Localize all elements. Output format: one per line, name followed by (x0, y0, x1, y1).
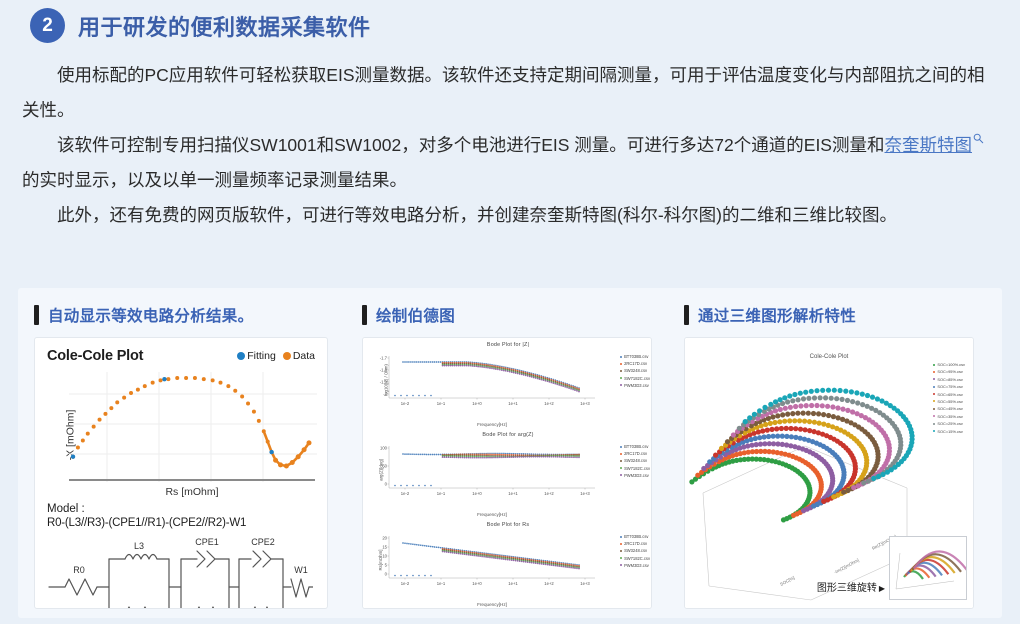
rotation-preview-inset[interactable] (889, 536, 967, 600)
svg-text:1e+0: 1e+0 (472, 401, 482, 406)
bode-legend-dot (620, 564, 622, 566)
svg-text:-2: -2 (383, 392, 387, 397)
bar-marker-icon (684, 305, 689, 325)
paragraph-2: 该软件可控制专用扫描仪SW1001和SW1002，对多个电池进行EIS 测量。可… (22, 128, 1000, 198)
three-d-legend-dot (933, 423, 935, 425)
bode-legend-item: SW7182C.csv (620, 466, 650, 471)
three-d-plot: Cole-Cole Plot Re(Z)[mOhm]-Im(Z)[mOhm]SO… (685, 338, 973, 608)
svg-text:1e+1: 1e+1 (508, 581, 518, 586)
three-d-legend-label: SOC=100%.csv (937, 362, 965, 367)
bode-legend-dot (620, 356, 622, 358)
bode-legend-dot (620, 550, 622, 552)
play-arrow-icon: ▶ (879, 584, 885, 593)
bode-legend-label: SW7182C.csv (624, 466, 650, 471)
bode-legend-dot (620, 460, 622, 462)
bode-charts: Bode Plot for |Z|log10(|Z| / Ohm)-1.7-1.… (363, 338, 651, 608)
bode-axes: -1.7-1.8-1.9-21e-21e-11e+01e+11e+21e+3 (363, 350, 621, 412)
bode-legend-label: BT7038B.csv (624, 354, 648, 359)
three-d-legend-item: SOC=65%.csv (933, 392, 965, 397)
three-d-legend-label: SOC=15%.csv (937, 429, 962, 434)
svg-text:-1.7: -1.7 (380, 356, 388, 361)
cole-cole-legend: Fitting Data (237, 350, 315, 362)
svg-text:1e-1: 1e-1 (437, 401, 446, 406)
body-text: 使用标配的PC应用软件可轻松获取EIS测量数据。该软件还支持定期间隔测量，可用于… (22, 58, 1000, 233)
feature-panels: 自动显示等效电路分析结果。 Cole-Cole Plot Fitting Dat… (18, 288, 1002, 618)
panel-3-head: 通过三维图形解析特性 (684, 304, 988, 326)
three-d-legend: SOC=100%.csvSOC=95%.csvSOC=85%.csvSOC=75… (931, 360, 967, 436)
svg-text:1e+3: 1e+3 (580, 401, 590, 406)
page-title: 用于研发的便利数据采集软件 (78, 10, 371, 42)
cole-cole-xlabel: Rs [mOhm] (69, 486, 315, 498)
bode-legend-item: SW3248.csv (620, 548, 650, 553)
three-d-legend-item: SOC=45%.csv (933, 406, 965, 411)
three-d-legend-dot (933, 393, 935, 395)
svg-text:-1.8: -1.8 (380, 368, 388, 373)
bode-legend-item: SW3248.csv (620, 368, 650, 373)
panel-1-title: 自动显示等效电路分析结果。 (48, 304, 253, 326)
svg-text:5: 5 (385, 563, 388, 568)
cole-cole-title: Cole-Cole Plot (47, 348, 143, 364)
legend-dot-data (283, 352, 291, 360)
svg-text:1e-2: 1e-2 (401, 581, 410, 586)
bode-legend-label: PWM3D3.csv (624, 473, 649, 478)
inset-caption-text: 图形三维旋转 (817, 583, 877, 594)
bode-legend-label: SW7182C.csv (624, 556, 650, 561)
three-d-legend-dot (933, 364, 935, 366)
bode-xlabel: Frequency[Hz] (363, 512, 621, 517)
svg-text:10: 10 (382, 554, 387, 559)
bode-legend-dot (620, 363, 622, 365)
bode-subchart-title: Bode Plot for |Z| (363, 338, 652, 348)
cole-cole-header: Cole-Cole Plot Fitting Data (47, 348, 315, 364)
three-d-legend-label: SOC=55%.csv (937, 399, 962, 404)
bode-subchart-title: Bode Plot for arg(Z) (363, 428, 652, 438)
bode-legend-dot (620, 467, 622, 469)
cole-cole-scatter (69, 372, 317, 482)
bode-legend-label: PWM3D3.csv (624, 563, 649, 568)
bode-legend: BT7038B.csv2RC17D.csvSW3248.csvSW7182C.c… (620, 534, 650, 568)
svg-text:-Im(Z)[mOhm]: -Im(Z)[mOhm] (833, 558, 860, 575)
svg-text:-1.9: -1.9 (380, 380, 388, 385)
legend-dot-fitting (237, 352, 245, 360)
bode-axes: 201510501e-21e-11e+01e+11e+21e+3 (363, 530, 621, 592)
bar-marker-icon (362, 305, 367, 325)
nyquist-plot-link[interactable]: 奈奎斯特图 (884, 135, 972, 155)
svg-text:15: 15 (382, 545, 387, 550)
svg-text:1e+3: 1e+3 (580, 581, 590, 586)
bode-legend-item: BT7038B.csv (620, 534, 650, 539)
bode-subchart-2: Bode Plot for RsRs[mOhm]201510501e-21e-1… (363, 518, 652, 608)
svg-text:1e+2: 1e+2 (544, 401, 554, 406)
bode-legend-label: BT7038B.csv (624, 444, 648, 449)
three-d-legend-item: SOC=55%.csv (933, 399, 965, 404)
bode-legend-dot (620, 557, 622, 559)
svg-text:1e+2: 1e+2 (544, 491, 554, 496)
three-d-legend-dot (933, 386, 935, 388)
inset-thumbnail (890, 537, 966, 599)
inset-caption: 图形三维旋转▶ (817, 579, 885, 594)
panel-3d-analysis: 通过三维图形解析特性 Cole-Cole Plot Re(Z)[mOhm]-Im… (668, 288, 1002, 618)
svg-text:1e+0: 1e+0 (472, 491, 482, 496)
legend-item-fitting: Fitting (237, 350, 276, 362)
svg-text:100: 100 (380, 446, 388, 451)
paragraph-2-before: 该软件可控制专用扫描仪SW1001和SW1002，对多个电池进行EIS 测量。可… (57, 135, 884, 155)
bode-legend-dot (620, 543, 622, 545)
bode-legend-dot (620, 377, 622, 379)
svg-text:0: 0 (385, 572, 388, 577)
svg-text:1e-2: 1e-2 (401, 401, 410, 406)
bode-subchart-0: Bode Plot for |Z|log10(|Z| / Ohm)-1.7-1.… (363, 338, 652, 428)
bode-subchart-1: Bode Plot for arg(Z)arg(Z)[deg]1005001e-… (363, 428, 652, 518)
three-d-legend-item: SOC=95%.csv (933, 369, 965, 374)
model-equation: R0-(L3//R3)-(CPE1//R1)-(CPE2//R2)-W1 (47, 517, 315, 529)
three-d-title: Cole-Cole Plot (685, 354, 973, 360)
circuit-diagram: R0 L3 R3 CPE1 R1 CPE2 R2 W1 (47, 535, 313, 609)
bode-legend-dot (620, 474, 622, 476)
three-d-legend-dot (933, 408, 935, 410)
model-label: Model : (47, 503, 315, 515)
bode-legend-label: SW3248.csv (624, 548, 647, 553)
bode-legend-dot (620, 536, 622, 538)
bode-legend-item: BT7038B.csv (620, 354, 650, 359)
bode-legend: BT7038B.csv2RC17D.csvSW3248.csvSW7182C.c… (620, 354, 650, 388)
svg-text:1e+3: 1e+3 (580, 491, 590, 496)
bode-legend-item: SW3248.csv (620, 458, 650, 463)
search-icon[interactable] (973, 133, 984, 144)
bode-legend-item: SW7182C.csv (620, 556, 650, 561)
bode-legend-dot (620, 446, 622, 448)
three-d-legend-dot (933, 400, 935, 402)
cole-cole-card: Cole-Cole Plot Fitting Data -X [mOhm] (34, 337, 328, 609)
svg-text:1e+1: 1e+1 (508, 401, 518, 406)
bode-subchart-title: Bode Plot for Rs (363, 518, 652, 528)
panel-3-title: 通过三维图形解析特性 (698, 304, 856, 326)
legend-item-data: Data (283, 350, 315, 362)
page-root: 2 用于研发的便利数据采集软件 使用标配的PC应用软件可轻松获取EIS测量数据。… (0, 0, 1020, 624)
bode-legend-label: 2RC17D.csv (624, 541, 647, 546)
section-number-badge: 2 (30, 8, 65, 43)
three-d-legend-item: SOC=35%.csv (933, 414, 965, 419)
bode-legend-item: PWM3D3.csv (620, 473, 650, 478)
bode-legend-label: PWM3D3.csv (624, 383, 649, 388)
bode-legend-label: SW3248.csv (624, 368, 647, 373)
panel-1-head: 自动显示等效电路分析结果。 (34, 304, 332, 326)
svg-text:1e+2: 1e+2 (544, 581, 554, 586)
bode-legend-item: 2RC17D.csv (620, 451, 650, 456)
bode-legend: BT7038B.csv2RC17D.csvSW3248.csvSW7182C.c… (620, 444, 650, 478)
bode-legend-dot (620, 370, 622, 372)
bode-axes: 1005001e-21e-11e+01e+11e+21e+3 (363, 440, 621, 502)
svg-text:1e-1: 1e-1 (437, 581, 446, 586)
panel-equivalent-circuit: 自动显示等效电路分析结果。 Cole-Cole Plot Fitting Dat… (18, 288, 346, 618)
three-d-legend-label: SOC=25%.csv (937, 421, 962, 426)
bode-legend-item: 2RC17D.csv (620, 541, 650, 546)
paragraph-2-after: 的实时显示，以及以单一测量频率记录测量结果。 (22, 170, 407, 190)
svg-text:1e-1: 1e-1 (437, 491, 446, 496)
three-d-legend-dot (933, 415, 935, 417)
three-d-legend-item: SOC=15%.csv (933, 429, 965, 434)
paragraph-1: 使用标配的PC应用软件可轻松获取EIS测量数据。该软件还支持定期间隔测量，可用于… (22, 58, 1000, 128)
legend-label-data: Data (293, 350, 315, 362)
bode-legend-item: 2RC17D.csv (620, 361, 650, 366)
bode-legend-label: BT7038B.csv (624, 534, 648, 539)
three-d-legend-label: SOC=95%.csv (937, 369, 962, 374)
three-d-legend-item: SOC=85%.csv (933, 377, 965, 382)
bode-legend-item: SW7182C.csv (620, 376, 650, 381)
bode-legend-item: PWM3D3.csv (620, 563, 650, 568)
bode-legend-dot (620, 453, 622, 455)
bode-legend-label: 2RC17D.csv (624, 451, 647, 456)
bode-legend-label: 2RC17D.csv (624, 361, 647, 366)
bode-legend-label: SW7182C.csv (624, 376, 650, 381)
bar-marker-icon (34, 305, 39, 325)
panel-bode-plot: 绘制伯德图 Bode Plot for |Z|log10(|Z| / Ohm)-… (346, 288, 668, 618)
section-heading: 2 用于研发的便利数据采集软件 (30, 8, 371, 43)
bode-legend-label: SW3248.csv (624, 458, 647, 463)
svg-text:1e-2: 1e-2 (401, 491, 410, 496)
panel-2-head: 绘制伯德图 (362, 304, 654, 326)
svg-text:SOC[%]: SOC[%] (779, 575, 795, 587)
three-d-card: Cole-Cole Plot Re(Z)[mOhm]-Im(Z)[mOhm]SO… (684, 337, 974, 609)
paragraph-3: 此外，还有免费的网页版软件，可进行等效电路分析，并创建奈奎斯特图(科尔-科尔图)… (22, 198, 1000, 233)
three-d-legend-dot (933, 378, 935, 380)
circuit-label-w1: W1 (294, 565, 308, 575)
three-d-legend-item: SOC=75%.csv (933, 384, 965, 389)
three-d-legend-label: SOC=85%.csv (937, 377, 962, 382)
panel-2-title: 绘制伯德图 (376, 304, 455, 326)
bode-legend-dot (620, 384, 622, 386)
cole-cole-plot: -X [mOhm] Rs (47, 372, 317, 497)
bode-xlabel: Frequency[Hz] (363, 422, 621, 427)
three-d-legend-dot (933, 371, 935, 373)
bode-card: Bode Plot for |Z|log10(|Z| / Ohm)-1.7-1.… (362, 337, 652, 609)
three-d-legend-label: SOC=65%.csv (937, 392, 962, 397)
svg-text:1e+0: 1e+0 (472, 581, 482, 586)
svg-text:1e+1: 1e+1 (508, 491, 518, 496)
bode-legend-item: PWM3D3.csv (620, 383, 650, 388)
svg-text:0: 0 (385, 482, 388, 487)
legend-label-fitting: Fitting (247, 350, 276, 362)
bode-xlabel: Frequency[Hz] (363, 602, 621, 607)
circuit-label-r0: R0 (73, 565, 85, 575)
svg-text:50: 50 (382, 464, 387, 469)
bode-legend-item: BT7038B.csv (620, 444, 650, 449)
three-d-legend-label: SOC=75%.csv (937, 384, 962, 389)
three-d-legend-item: SOC=100%.csv (933, 362, 965, 367)
svg-text:20: 20 (382, 536, 387, 541)
three-d-legend-dot (933, 430, 935, 432)
three-d-legend-item: SOC=25%.csv (933, 421, 965, 426)
three-d-legend-label: SOC=45%.csv (937, 406, 962, 411)
circuit-label-cpe1: CPE1 (195, 537, 219, 547)
cole-cole-xaxis (69, 479, 315, 481)
circuit-label-l3: L3 (134, 541, 144, 551)
three-d-legend-label: SOC=35%.csv (937, 414, 962, 419)
circuit-label-cpe2: CPE2 (251, 537, 275, 547)
